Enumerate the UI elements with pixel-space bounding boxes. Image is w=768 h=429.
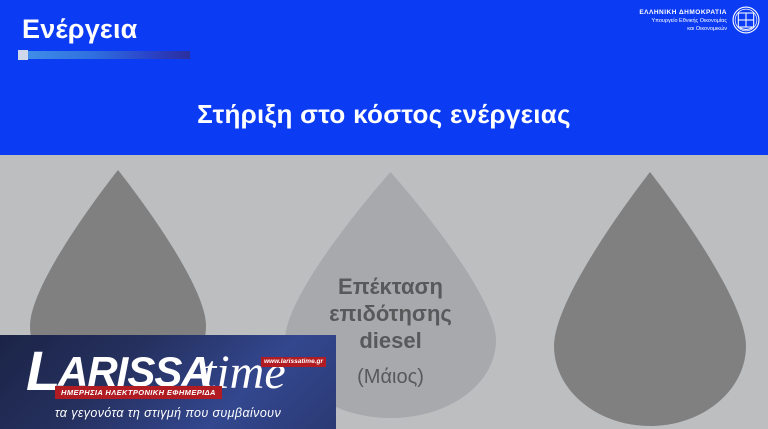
progress-knob-icon xyxy=(18,50,28,60)
watermark-badge: ΗΜΕΡΗΣΙΑ ΗΛΕΚΤΡΟΝΙΚΗ ΕΦΗΜΕΡΙΔΑ xyxy=(55,386,222,399)
government-logo-text: ΕΛΛΗΝΙΚΗ ΔΗΜΟΚΡΑΤΙΑ Υπουργείο Εθνικής Οι… xyxy=(639,8,727,33)
government-logo: ΕΛΛΗΝΙΚΗ ΔΗΜΟΚΡΑΤΙΑ Υπουργείο Εθνικής Οι… xyxy=(639,6,760,34)
gov-line-republic: ΕΛΛΗΝΙΚΗ ΔΗΜΟΚΡΑΤΙΑ xyxy=(639,8,727,17)
gov-line-ministry: Υπουργείο Εθνικής Οικονομίας xyxy=(639,17,727,25)
header-banner: Ενέργεια ΕΛΛΗΝΙΚΗ ΔΗΜΟΚΡΑΤΙΑ Υπουργείο Ε… xyxy=(0,0,768,155)
larissatime-watermark: L ARISSA time www.larissatime.gr ΗΜΕΡΗΣΙ… xyxy=(0,335,336,429)
slide-body: Επέκταση επιδότησης diesel (Μάιος) L ARI… xyxy=(0,155,768,429)
caption-line-2: επιδότησης xyxy=(283,300,498,327)
caption-line-1: Επέκταση xyxy=(283,273,498,300)
watermark-tagline: τα γεγονότα τη στιγμή που συμβαίνουν xyxy=(0,405,336,421)
watermark-url: www.larissatime.gr xyxy=(261,357,326,367)
progress-bar-fill xyxy=(28,51,190,59)
progress-indicator xyxy=(18,50,190,60)
droplet-right-icon xyxy=(552,170,748,428)
page-title: Στήριξη στο κόστος ενέργειας xyxy=(0,98,768,130)
gov-line-ministry-cont: και Οικονομικών xyxy=(639,25,727,33)
header-kicker: Ενέργεια xyxy=(22,12,137,46)
greek-coat-of-arms-icon xyxy=(732,6,760,34)
slide-screenshot: Ενέργεια ΕΛΛΗΝΙΚΗ ΔΗΜΟΚΡΑΤΙΑ Υπουργείο Ε… xyxy=(0,0,768,429)
